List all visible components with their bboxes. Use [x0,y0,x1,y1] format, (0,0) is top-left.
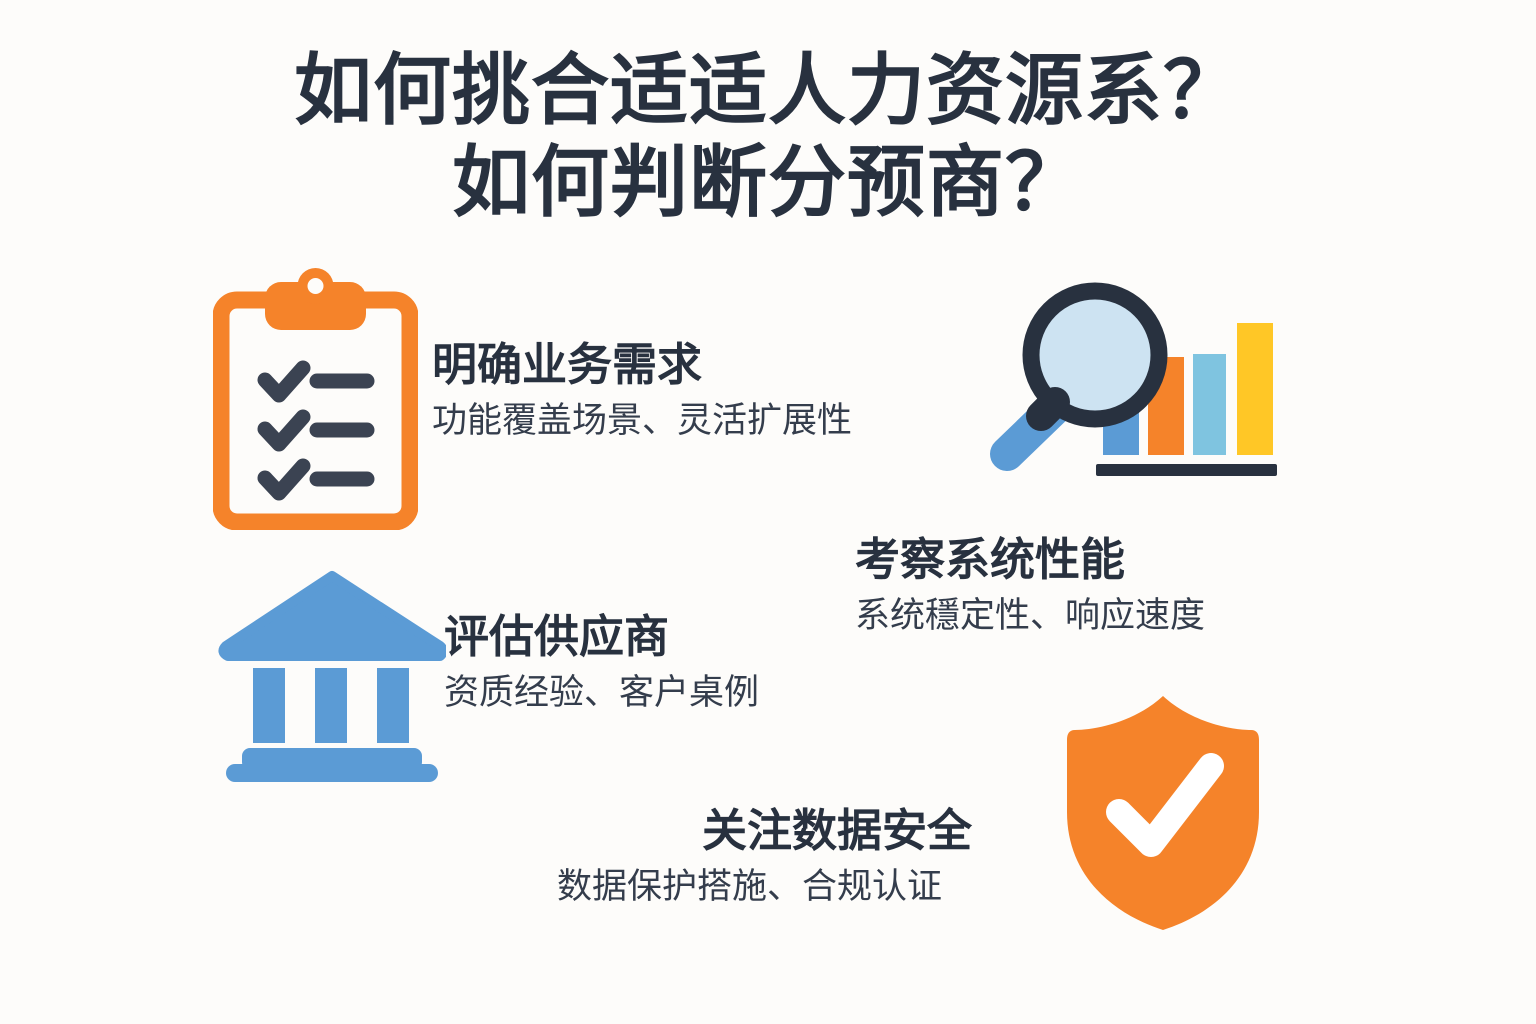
chart-baseline [1096,464,1277,476]
item-1-heading: 明确业务需求 [432,340,852,390]
bank-building-icon [218,568,446,786]
title-line-2: 如何判断分预商？ [0,136,1536,228]
item-3-block: 评估供应商 资质经验、客户桌例 [444,612,759,714]
clipboard-checklist-icon [213,268,418,530]
infographic-poster: 如何挑合适适人力资源系？ 如何判断分预商？ 明确 [0,0,1536,1024]
item-2-subtitle: 系统穩定性、响应速度 [855,595,1205,637]
item-2-heading: 考察系统性能 [855,535,1205,585]
item-4-heading: 关注数据安全 [702,806,972,856]
title-line-1: 如何挑合适适人力资源系？ [0,44,1536,136]
page-title: 如何挑合适适人力资源系？ 如何判断分预商？ [0,44,1536,228]
magnifier-bar-chart-icon [985,272,1293,504]
item-2-block: 考察系统性能 系统穩定性、响应速度 [855,535,1205,637]
item-4-subtitle: 数据保护搭施、合规认证 [557,866,972,908]
item-4-block: 关注数据安全 数据保护搭施、合规认证 [557,806,972,908]
item-1-subtitle: 功能覆盖场景、灵活扩展性 [432,400,852,442]
shield-check-icon [1063,690,1263,935]
item-3-heading: 评估供应商 [444,612,759,662]
item-1-block: 明确业务需求 功能覆盖场景、灵活扩展性 [432,340,852,442]
item-3-subtitle: 资质经验、客户桌例 [444,672,759,714]
